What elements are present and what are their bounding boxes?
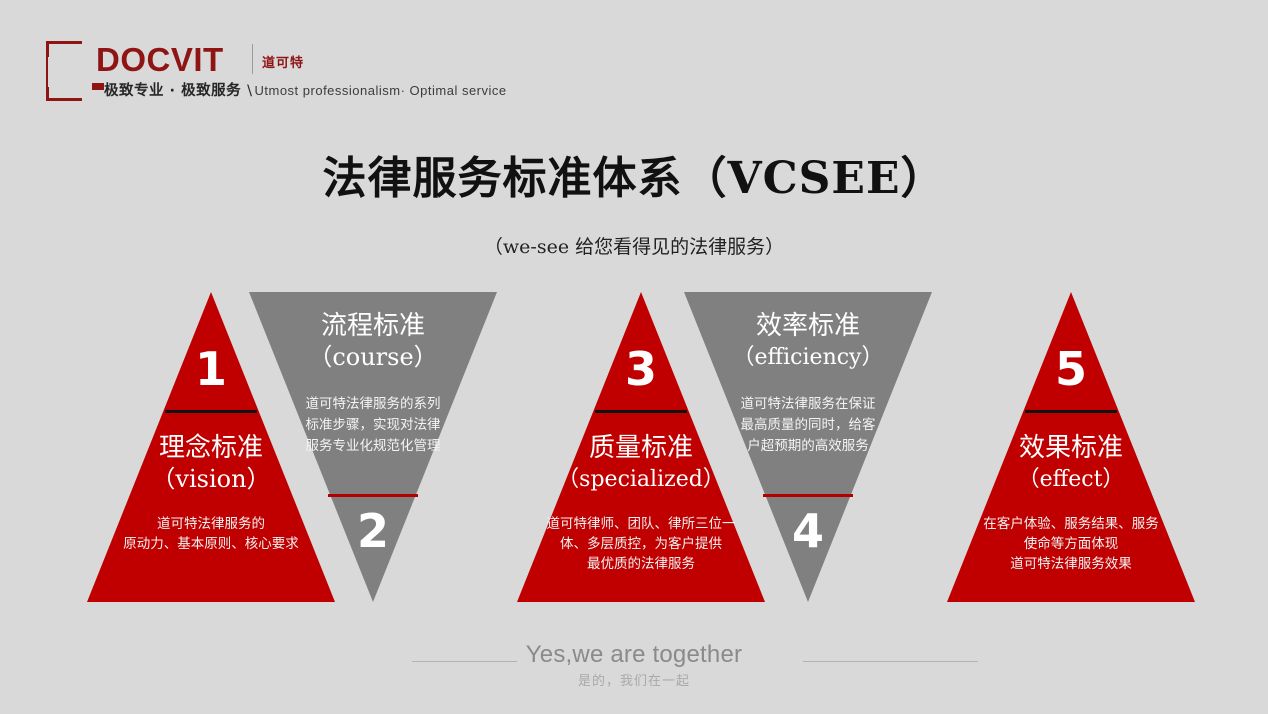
pyramid-5-number: 5 xyxy=(947,346,1195,392)
footer-slogan-en: Yes,we are together xyxy=(0,641,1268,669)
pyramid-2-body-line-1: 道可特法律服务的系列 xyxy=(249,394,497,415)
pyramid-5-body-line-1: 在客户体验、服务结果、服务 xyxy=(947,514,1195,534)
pyramid-4-heading-en: （efficiency） xyxy=(684,344,932,372)
pyramid-5-rule xyxy=(947,400,1195,413)
pyramid-5-heading-cn: 效果标准 xyxy=(947,432,1195,464)
pyramid-2-rule xyxy=(249,494,497,497)
pyramid-4-rule xyxy=(684,494,932,497)
pyramid-5-body-line-3: 道可特法律服务效果 xyxy=(947,554,1195,574)
pyramid-5: 5 效果标准 （effect） 在客户体验、服务结果、服务 使命等方面体现 道可… xyxy=(947,292,1195,602)
pyramid-4-heading-cn: 效率标准 xyxy=(684,310,932,342)
pyramid-2: 流程标准 （course） 道可特法律服务的系列 标准步骤，实现对法律 服务专业… xyxy=(249,292,497,602)
pyramid-4-number: 4 xyxy=(684,508,932,554)
pyramid-4-body-line-3: 户超预期的高效服务 xyxy=(684,436,932,457)
pyramid-2-body-line-2: 标准步骤，实现对法律 xyxy=(249,415,497,436)
pyramid-4: 效率标准 （efficiency） 道可特法律服务在保证 最高质量的同时，给客 … xyxy=(684,292,932,602)
pyramid-2-number: 2 xyxy=(249,508,497,554)
pyramid-2-heading-cn: 流程标准 xyxy=(249,310,497,342)
pyramid-5-heading-en: （effect） xyxy=(947,466,1195,494)
pyramid-4-body-line-2: 最高质量的同时，给客 xyxy=(684,415,932,436)
pyramid-2-body-line-3: 服务专业化规范化管理 xyxy=(249,436,497,457)
pyramid-4-body-line-1: 道可特法律服务在保证 xyxy=(684,394,932,415)
pyramid-2-heading-en: （course） xyxy=(249,342,497,372)
pyramid-5-body-line-2: 使命等方面体现 xyxy=(947,534,1195,554)
footer-slogan-cn: 是的，我们在一起 xyxy=(0,670,1268,689)
